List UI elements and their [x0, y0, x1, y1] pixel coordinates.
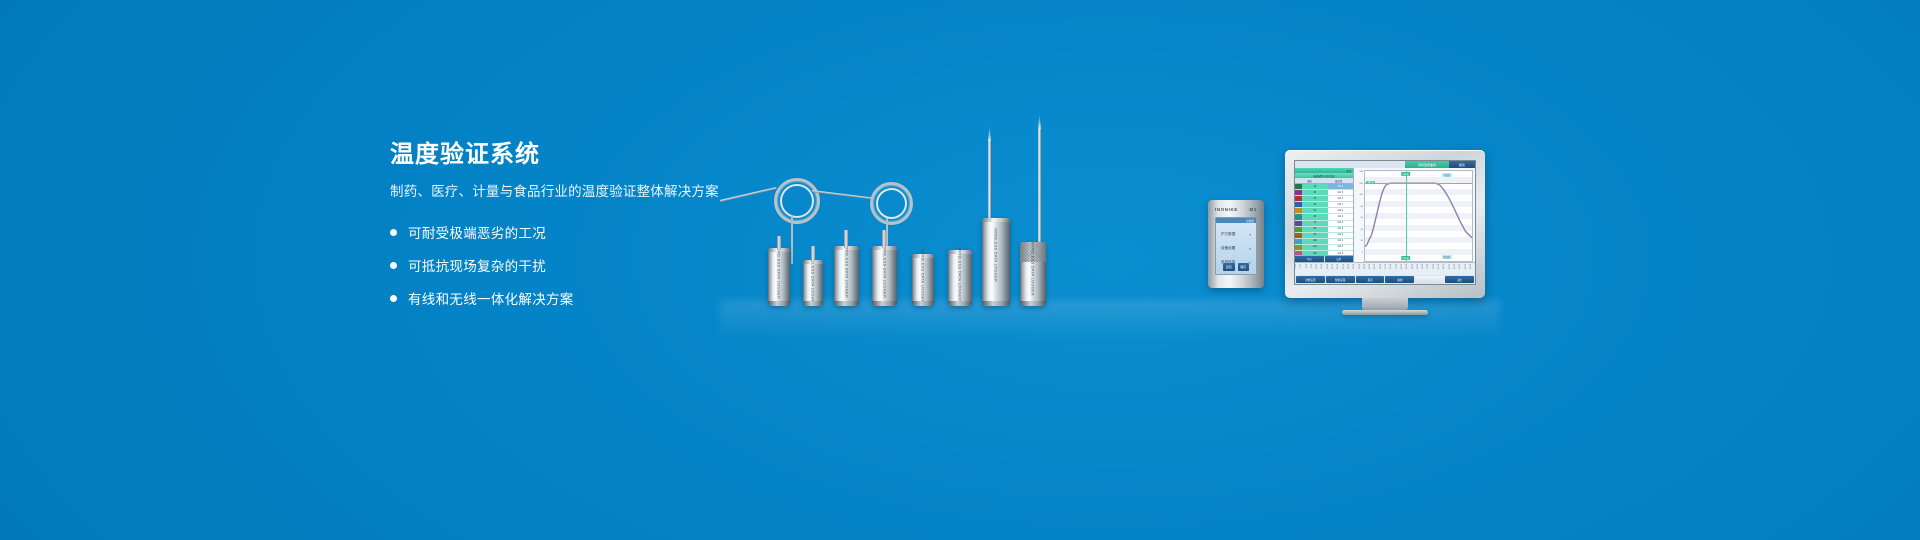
chart-cursor-line[interactable] — [1406, 171, 1407, 261]
y-tick-label: 60 — [1361, 217, 1363, 219]
chart-plot-area[interactable]: 121.2 灭菌段 时间轴 升温段 降温段 — [1364, 170, 1473, 262]
data-logger: WIRELESS DATA LOGGER — [803, 260, 823, 306]
tab-strip-spacer — [1295, 161, 1405, 168]
channel-table-rows: 1#121.32#121.53#121.14#121.75#121.46#121… — [1295, 184, 1353, 255]
channel-value-cell: 121.7 — [1328, 202, 1354, 207]
logger-label: WIRELESS DATA LOGGER — [882, 244, 887, 298]
channel-table-footer: 导出 设置 — [1295, 255, 1353, 262]
x-tick-label: 3:00 — [1300, 264, 1305, 268]
monitor-screen[interactable]: 实时监控曲线 报表 关闭 通道配置与实时温度 通道 温 — [1294, 160, 1476, 285]
needle-probe-2 — [1038, 128, 1041, 258]
toolbar-report-button[interactable]: 报表 — [1356, 276, 1385, 283]
channel-value-cell: 121.5 — [1328, 190, 1354, 195]
bullet-dot-icon — [390, 262, 397, 269]
monitor-base — [1342, 310, 1428, 315]
close-icon[interactable]: 关闭 — [1346, 169, 1351, 173]
y-tick-label: 40 — [1361, 229, 1363, 231]
channel-color-swatch — [1295, 227, 1302, 232]
handheld-branding: INONIKE M1 — [1208, 207, 1264, 212]
handheld-menu-label: 护力数据 — [1221, 232, 1235, 237]
logger-label: WIRELESS DATA LOGGER — [994, 228, 999, 282]
channel-color-swatch — [1295, 184, 1302, 189]
hero-banner: 温度验证系统 制药、医疗、计量与食品行业的温度验证整体解决方案 可耐受极端恶劣的… — [0, 0, 1920, 540]
chart-x-axis: 0:003:006:009:0012:0015:0018:0021:0024:0… — [1295, 262, 1475, 275]
data-logger: WIRELESS DATA LOGGER — [948, 250, 972, 306]
x-tick-label: 24:00 — [1337, 264, 1342, 269]
temperature-curve-line — [1365, 183, 1472, 247]
x-tick-label: 75:00 — [1427, 264, 1432, 269]
x-tick-label: 99:00 — [1470, 264, 1475, 269]
handheld-menu-item[interactable]: 设备设置 » — [1216, 246, 1256, 251]
probe-stub — [882, 230, 886, 248]
chevron-right-icon: » — [1249, 233, 1251, 237]
channel-value-cell: 121.2 — [1328, 239, 1354, 244]
monitor-bezel: 实时监控曲线 报表 关闭 通道配置与实时温度 通道 温 — [1285, 150, 1485, 298]
channel-color-swatch — [1295, 208, 1302, 213]
channel-color-swatch — [1295, 233, 1302, 238]
channel-value-cell: 121.6 — [1328, 221, 1354, 226]
region-tag-heating: 升温段 — [1442, 173, 1452, 177]
toolbar-spacer — [1415, 276, 1444, 283]
channel-id-cell: 9# — [1302, 233, 1328, 238]
x-tick-label: 45:00 — [1374, 264, 1379, 269]
channel-id-cell: 1# — [1302, 184, 1328, 189]
x-tick-label: 54:00 — [1390, 264, 1395, 269]
y-tick-label: 80 — [1361, 206, 1363, 208]
toolbar-exit-button[interactable]: 退出 — [1445, 276, 1474, 283]
software-body: 关闭 通道配置与实时温度 通道 温度值 1#121.32#121.53#121.… — [1295, 168, 1475, 262]
column-header-channel: 通道 — [1295, 179, 1324, 183]
channel-color-swatch — [1295, 202, 1302, 207]
software-toolbar: 参数设置 数据采集 报表 曲线 退出 — [1295, 275, 1475, 284]
channel-value-cell: 121.3 — [1328, 227, 1354, 232]
data-logger: WIRELESS DATA LOGGER — [872, 246, 897, 306]
handheld-reader[interactable]: INONIKE M1 接收器 护力数据 » 设备设置 » 系统信息 » 返回 确… — [1208, 200, 1264, 288]
data-logger: WIRELESS DATA LOGGER — [912, 254, 934, 306]
y-tick-label: 0 — [1362, 252, 1363, 254]
handheld-titlebar: 接收器 — [1216, 218, 1256, 223]
chart-panel: 140120100806040200 121.2 灭菌段 时间轴 升温段 降温段 — [1354, 168, 1475, 262]
handheld-screen[interactable]: 接收器 护力数据 » 设备设置 » 系统信息 » 返回 确定 — [1215, 217, 1257, 275]
bullet-dot-icon — [390, 229, 397, 236]
temperature-curve-svg — [1365, 171, 1472, 261]
feature-label: 可耐受极端恶劣的工况 — [408, 222, 546, 242]
tab-realtime-curve[interactable]: 实时监控曲线 — [1405, 161, 1449, 168]
channel-value-cell: 121.4 — [1328, 208, 1354, 213]
software-tab-strip: 实时监控曲线 报表 — [1295, 161, 1475, 168]
toolbar-params-button[interactable]: 参数设置 — [1296, 276, 1325, 283]
channel-color-swatch — [1295, 221, 1302, 226]
channel-id-cell: 7# — [1302, 221, 1328, 226]
limit-value-badge: 121.2 — [1366, 181, 1375, 184]
y-tick-label: 120 — [1359, 183, 1363, 185]
data-logger-filter: WIRELESS DATA LOGGER — [1020, 242, 1046, 306]
channel-table-subheader-label: 通道配置与实时温度 — [1313, 174, 1335, 178]
region-tag-cooling: 降温段 — [1442, 255, 1452, 259]
data-logger: WIRELESS DATA LOGGER — [768, 248, 790, 306]
channel-id-cell: 5# — [1302, 208, 1328, 213]
logger-label: WIRELESS DATA LOGGER — [958, 247, 963, 301]
x-tick-label: 93:00 — [1459, 264, 1464, 269]
channel-color-swatch — [1295, 196, 1302, 201]
channel-id-cell: 11# — [1302, 245, 1328, 250]
toolbar-acquire-button[interactable]: 数据采集 — [1326, 276, 1355, 283]
y-tick-label: 140 — [1359, 171, 1363, 173]
handheld-button-bar: 返回 确定 — [1223, 263, 1249, 271]
handheld-menu-label: 设备设置 — [1221, 246, 1235, 251]
channel-value-cell: 121.4 — [1328, 245, 1354, 250]
chart-y-axis: 140120100806040200 — [1354, 168, 1364, 262]
channel-value-cell: 121.3 — [1328, 184, 1354, 189]
logger-label: WIRELESS DATA LOGGER — [921, 249, 926, 303]
channel-id-cell: 4# — [1302, 202, 1328, 207]
channel-value-cell: 121.5 — [1328, 233, 1354, 238]
channel-id-cell: 8# — [1302, 227, 1328, 232]
limit-line — [1365, 183, 1472, 184]
channel-color-swatch — [1295, 190, 1302, 195]
tab-report[interactable]: 报表 — [1449, 161, 1475, 168]
chevron-right-icon: » — [1249, 247, 1251, 251]
handheld-model-label: M1 — [1250, 207, 1257, 212]
bullet-dot-icon — [390, 295, 397, 302]
handheld-back-button[interactable]: 返回 — [1223, 263, 1235, 271]
x-tick-label: 84:00 — [1443, 264, 1448, 269]
feature-label: 有线和无线一体化解决方案 — [408, 288, 574, 308]
handheld-menu-item[interactable]: 护力数据 » — [1216, 232, 1256, 237]
channel-id-cell: 6# — [1302, 214, 1328, 219]
channel-value-cell: 121.1 — [1328, 196, 1354, 201]
channel-color-swatch — [1295, 245, 1302, 250]
channel-value-cell: 121.2 — [1328, 214, 1354, 219]
channel-id-cell: 3# — [1302, 196, 1328, 201]
handheld-confirm-button[interactable]: 确定 — [1238, 263, 1250, 271]
feature-label: 可抵抗现场复杂的干扰 — [408, 255, 546, 275]
channel-id-cell: 2# — [1302, 190, 1328, 195]
cursor-top-tag: 灭菌段 — [1401, 172, 1411, 176]
channel-color-swatch — [1295, 214, 1302, 219]
handheld-screen-title: 接收器 — [1246, 219, 1254, 223]
channel-color-swatch — [1295, 239, 1302, 244]
probe-stub — [777, 236, 781, 250]
probe-stub — [811, 246, 815, 262]
probe-stub — [844, 230, 848, 248]
x-tick-label: 63:00 — [1406, 264, 1411, 269]
data-logger: WIRELESS DATA LOGGER — [834, 246, 859, 306]
logger-label: WIRELESS DATA LOGGER — [777, 245, 782, 299]
x-tick-label: 33:00 — [1353, 264, 1358, 269]
chevron-right-icon: » — [1249, 261, 1251, 265]
x-tick-label: 96:00 — [1465, 264, 1470, 269]
channel-table[interactable]: 关闭 通道配置与实时温度 通道 温度值 1#121.32#121.53#121.… — [1295, 168, 1354, 262]
toolbar-curve-button[interactable]: 曲线 — [1385, 276, 1414, 283]
cursor-bottom-tag: 时间轴 — [1401, 256, 1411, 260]
data-logger: WIRELESS DATA LOGGER — [982, 218, 1010, 306]
column-header-temperature: 温度值 — [1324, 179, 1353, 183]
y-tick-label: 20 — [1361, 240, 1363, 242]
product-group: WIRELESS DATA LOGGER WIRELESS DATA LOGGE… — [720, 120, 1220, 310]
channel-id-cell: 10# — [1302, 239, 1328, 244]
monitor-display: INON 实时监控曲线 报表 关闭 通道配置与实时温度 — [1285, 150, 1485, 298]
handheld-brand-label: INONIKE — [1215, 207, 1238, 212]
y-tick-label: 100 — [1359, 194, 1363, 196]
x-tick-label: 15:00 — [1321, 264, 1326, 269]
logger-label: WIRELESS DATA LOGGER — [1031, 242, 1036, 296]
logger-label: WIRELESS DATA LOGGER — [844, 244, 849, 298]
